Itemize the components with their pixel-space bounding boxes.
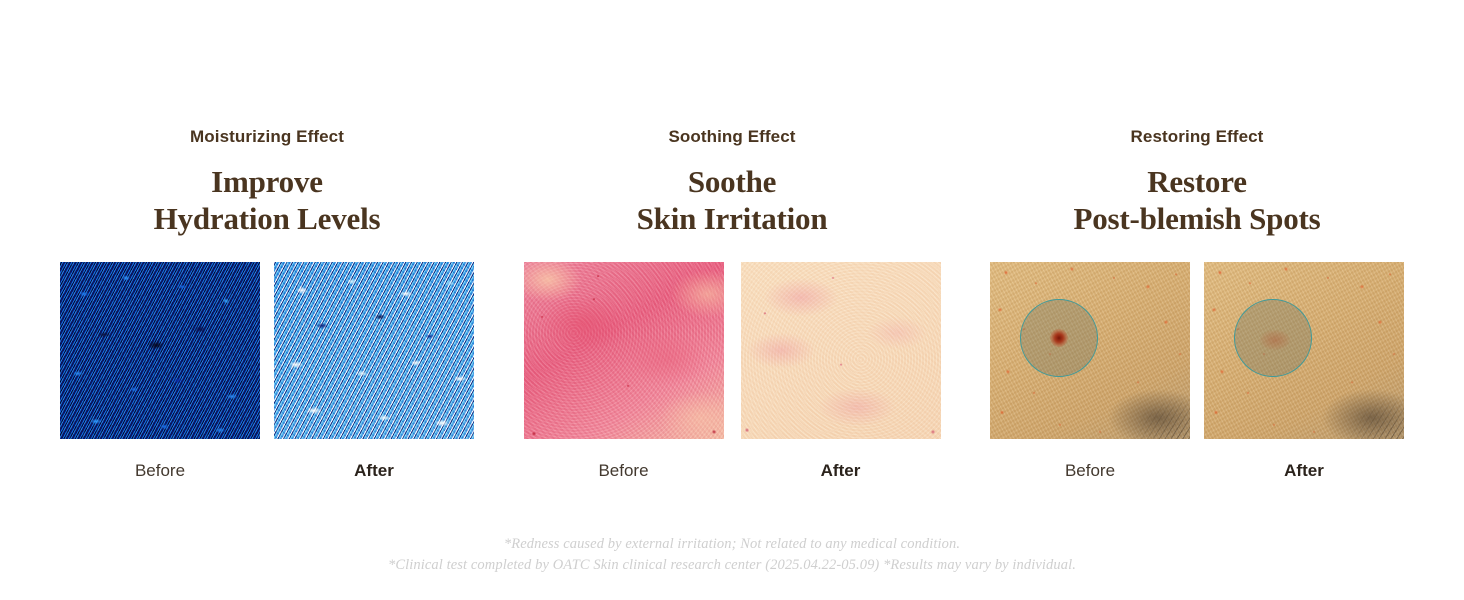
effect-eyebrow: Moisturizing Effect [190,128,344,145]
before-after-pair: Before After [60,262,474,479]
hair-tuft [1100,355,1190,439]
footnotes: *Redness caused by external irritation; … [0,534,1464,576]
redness-texture-after [741,262,941,439]
after-caption: After [821,462,861,479]
effect-eyebrow: Soothing Effect [668,128,795,145]
before-caption: Before [135,462,185,479]
hydration-texture-after [274,262,474,439]
after-shot-wrap: After [1204,262,1404,479]
after-image-redness [741,262,941,439]
after-shot-wrap: After [741,262,941,479]
effects-columns: Moisturizing Effect Improve Hydration Le… [0,128,1464,479]
before-caption: Before [1065,462,1115,479]
clinical-results-page: Moisturizing Effect Improve Hydration Le… [0,0,1464,600]
effect-eyebrow: Restoring Effect [1131,128,1264,145]
effect-column-restoring: Restoring Effect Restore Post-blemish Sp… [962,128,1432,479]
after-caption: After [354,462,394,479]
before-image-redness [524,262,724,439]
blemish-spot-dark [1050,329,1068,347]
hydration-texture-before [60,262,260,439]
redness-texture-before [524,262,724,439]
before-image-hydration [60,262,260,439]
before-image-blemish [990,262,1190,439]
blemish-spot-faded [1260,330,1290,350]
before-after-pair: Before After [990,262,1404,479]
effect-column-soothing: Soothing Effect Soothe Skin Irritation B… [502,128,962,479]
effect-headline: Soothe Skin Irritation [637,164,828,237]
after-image-hydration [274,262,474,439]
footnote-clinical-test: *Clinical test completed by OATC Skin cl… [0,555,1464,576]
before-after-pair: Before After [524,262,941,479]
effect-headline: Improve Hydration Levels [154,164,381,237]
measurement-circle-marker [1234,299,1312,377]
after-image-blemish [1204,262,1404,439]
before-shot-wrap: Before [60,262,260,479]
before-caption: Before [598,462,648,479]
effect-headline: Restore Post-blemish Spots [1073,164,1320,237]
footnote-redness-disclaimer: *Redness caused by external irritation; … [0,534,1464,555]
before-shot-wrap: Before [524,262,724,479]
after-shot-wrap: After [274,262,474,479]
after-caption: After [1284,462,1324,479]
effect-column-moisturizing: Moisturizing Effect Improve Hydration Le… [32,128,502,479]
before-shot-wrap: Before [990,262,1190,479]
measurement-circle-marker [1020,299,1098,377]
hair-tuft [1314,355,1404,439]
